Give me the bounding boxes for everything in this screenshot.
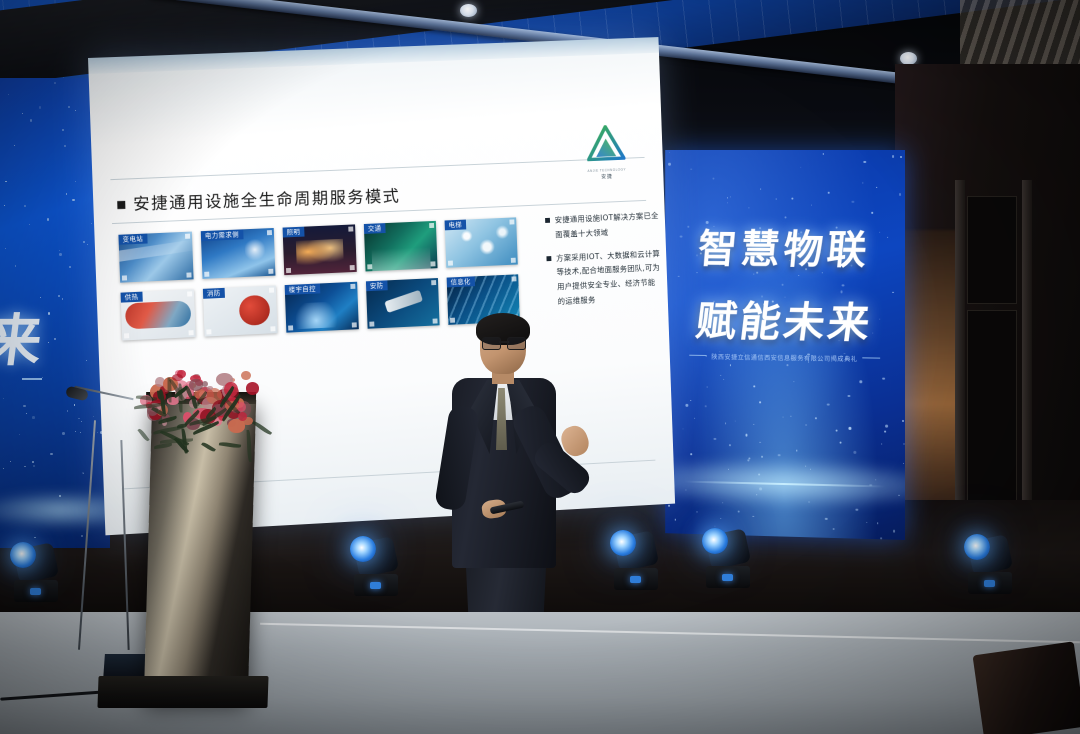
logo-cn-text: 安捷 bbox=[585, 172, 629, 181]
led-dash-right bbox=[862, 357, 880, 358]
thumbnail-row: 变电站电力需求侧照明交通电梯 bbox=[118, 217, 531, 283]
led-particle bbox=[848, 395, 850, 398]
led-particle bbox=[66, 193, 68, 195]
thumbnail-label: 供热 bbox=[121, 292, 143, 303]
stage-light-lens-icon bbox=[964, 534, 990, 560]
thumbnail-corner-marker bbox=[448, 261, 453, 266]
led-particle bbox=[10, 461, 11, 462]
thumbnail-tile: 供热 bbox=[121, 289, 196, 340]
led-particle bbox=[883, 377, 885, 380]
led-particle bbox=[686, 404, 688, 406]
led-particle bbox=[811, 205, 812, 206]
led-particle bbox=[892, 155, 894, 157]
stage-light-lens-icon bbox=[350, 536, 376, 562]
led-particle bbox=[24, 466, 26, 468]
thumbnail-corner-marker bbox=[369, 322, 374, 327]
led-particle bbox=[47, 218, 50, 221]
led-particle bbox=[81, 421, 82, 422]
led-particle bbox=[786, 364, 788, 366]
led-particle bbox=[668, 163, 670, 165]
led-particle bbox=[884, 431, 886, 433]
thumbnail-tile: 电力需求侧 bbox=[201, 228, 276, 279]
flower-petal bbox=[238, 412, 246, 421]
led-particle bbox=[15, 265, 16, 266]
led-particle bbox=[50, 453, 53, 456]
stage-light-lens-icon bbox=[10, 542, 36, 568]
led-particle bbox=[899, 193, 902, 196]
flower-petal bbox=[241, 371, 250, 380]
led-particle bbox=[862, 182, 863, 183]
led-particle bbox=[842, 284, 845, 287]
led-particle bbox=[902, 420, 905, 423]
stage-light-indicator bbox=[30, 588, 41, 595]
slide-bullet-list: 安捷通用设施IOT解决方案已全面覆盖十大领域方案采用IOT、大数据和云计算等技术… bbox=[545, 209, 664, 319]
led-particle bbox=[800, 167, 801, 168]
thumbnail-corner-marker bbox=[509, 219, 514, 224]
stage-light-indicator bbox=[722, 574, 733, 581]
bullet-square-icon bbox=[117, 201, 125, 209]
thumbnail-corner-marker bbox=[286, 268, 291, 273]
led-particle bbox=[748, 207, 749, 208]
led-particle bbox=[33, 465, 35, 467]
led-particle bbox=[876, 187, 877, 188]
led-particle bbox=[696, 511, 697, 512]
thumbnail-corner-marker bbox=[189, 330, 194, 335]
led-particle bbox=[54, 82, 56, 84]
thumbnail-corner-marker bbox=[186, 272, 191, 277]
thumbnail-tile: 变电站 bbox=[118, 232, 193, 283]
thumbnail-corner-marker bbox=[511, 258, 516, 263]
slide-divider-top bbox=[110, 157, 644, 180]
thumbnail-corner-marker bbox=[122, 275, 127, 280]
thumbnail-corner-marker bbox=[288, 325, 293, 330]
led-particle bbox=[871, 212, 873, 214]
led-particle bbox=[833, 528, 835, 530]
led-particle bbox=[64, 145, 66, 147]
stage-monitor bbox=[973, 641, 1080, 734]
slide-heading: 安捷通用设施全生命周期服务模式 bbox=[117, 183, 401, 215]
led-particle bbox=[791, 197, 793, 199]
thumbnail-tile: 交通 bbox=[364, 221, 438, 272]
led-particle bbox=[5, 248, 6, 249]
thumbnail-tile: 照明 bbox=[283, 224, 357, 275]
led-particle bbox=[881, 443, 882, 444]
flower-leaf bbox=[168, 377, 172, 402]
led-particle bbox=[32, 416, 35, 419]
led-particle bbox=[866, 521, 867, 522]
podium-base bbox=[97, 676, 268, 708]
glasses-lens-right bbox=[507, 337, 526, 350]
led-particle bbox=[753, 424, 754, 425]
led-particle bbox=[59, 253, 62, 256]
led-particle bbox=[728, 444, 730, 446]
thumbnail-tile: 安防 bbox=[366, 278, 440, 329]
stage-light bbox=[8, 530, 64, 606]
main-led-screen: 智慧物联 赋能未来 陕西安捷立信通信西安信息服务有限公司揭成典礼 bbox=[665, 150, 905, 540]
led-particle bbox=[827, 403, 830, 406]
led-particle bbox=[80, 432, 81, 433]
slide-bullet: 安捷通用设施IOT解决方案已全面覆盖十大领域 bbox=[545, 209, 661, 243]
led-particle bbox=[87, 244, 88, 245]
led-particle bbox=[75, 181, 76, 182]
led-particle bbox=[691, 168, 692, 169]
led-particle bbox=[72, 199, 74, 201]
led-particle bbox=[62, 432, 65, 435]
photo-scene: 来 智慧物联 赋能未来 陕西安捷立信通信西安信息服务有限公司揭成典礼 bbox=[0, 0, 1080, 734]
led-particle bbox=[793, 381, 794, 382]
led-particle bbox=[781, 283, 784, 286]
led-particle bbox=[3, 398, 4, 399]
flower-petal bbox=[189, 379, 203, 391]
led-particle bbox=[75, 431, 76, 432]
led-particle bbox=[5, 181, 6, 182]
thumbnail-corner-marker bbox=[511, 276, 516, 281]
thumbnail-label: 电力需求侧 bbox=[201, 229, 243, 241]
thumbnail-corner-marker bbox=[367, 264, 372, 269]
led-particle bbox=[745, 434, 748, 437]
thumbnail-label: 变电站 bbox=[118, 234, 147, 245]
thumbnail-corner-marker bbox=[204, 272, 209, 277]
led-particle bbox=[62, 298, 63, 299]
slide-bullet: 方案采用IOT、大数据和云计算等技术,配合地面服务团队,可为用户提供安全专业、经… bbox=[546, 247, 663, 310]
led-particle bbox=[75, 110, 76, 111]
led-particle bbox=[712, 177, 714, 179]
thumbnail-corner-marker bbox=[429, 223, 434, 228]
thumbnail-label: 电梯 bbox=[445, 220, 466, 231]
led-particle bbox=[825, 518, 828, 521]
led-particle bbox=[775, 198, 776, 199]
stage-light-lens-icon bbox=[702, 528, 728, 554]
flower-leaf bbox=[202, 441, 217, 453]
thumbnail-label: 信息化 bbox=[447, 276, 475, 287]
led-particle bbox=[864, 161, 866, 163]
led-particle bbox=[26, 413, 27, 414]
led-particle bbox=[903, 443, 905, 445]
thumbnail-corner-marker bbox=[270, 326, 275, 331]
led-left-glow bbox=[0, 490, 110, 530]
thumbnail-corner-marker bbox=[352, 322, 357, 327]
thumbnail-label: 交通 bbox=[364, 223, 386, 234]
led-particle bbox=[54, 338, 56, 340]
led-particle bbox=[19, 434, 20, 435]
led-particle bbox=[8, 94, 10, 96]
flower-leaf bbox=[219, 441, 241, 448]
led-particle bbox=[860, 380, 863, 383]
flower-petal bbox=[207, 386, 213, 390]
led-particle bbox=[805, 424, 807, 426]
flower-petal bbox=[246, 382, 260, 395]
glasses-icon bbox=[482, 337, 526, 348]
led-particle bbox=[796, 449, 798, 451]
led-dash-left bbox=[689, 355, 706, 356]
led-particle bbox=[14, 145, 15, 146]
led-particle bbox=[694, 418, 695, 419]
stage-light-lens-icon bbox=[610, 530, 636, 556]
led-particle bbox=[93, 416, 94, 417]
led-particle bbox=[705, 406, 706, 408]
led-particle bbox=[69, 266, 70, 267]
led-particle bbox=[853, 451, 856, 454]
led-particle bbox=[880, 537, 882, 539]
led-particle bbox=[782, 416, 783, 417]
led-left-dash bbox=[22, 378, 42, 380]
led-particle bbox=[815, 417, 817, 419]
led-particle bbox=[30, 119, 33, 122]
led-particle bbox=[730, 196, 731, 197]
led-particle bbox=[74, 404, 76, 406]
led-particle bbox=[822, 153, 824, 155]
led-particle bbox=[58, 295, 61, 298]
truss-lamp-icon bbox=[460, 4, 477, 17]
led-particle bbox=[674, 519, 676, 521]
thumbnail-corner-marker bbox=[348, 226, 353, 231]
led-particle bbox=[877, 522, 879, 524]
led-particle bbox=[852, 201, 854, 203]
led-particle bbox=[753, 385, 755, 387]
led-particle bbox=[32, 461, 35, 464]
stage-light bbox=[700, 516, 756, 592]
stage-light bbox=[348, 524, 404, 600]
led-particle bbox=[24, 205, 26, 207]
thumbnail-corner-marker bbox=[185, 234, 190, 239]
thumbnail-label: 照明 bbox=[283, 227, 305, 238]
led-particle bbox=[78, 418, 80, 420]
led-particle bbox=[725, 423, 727, 425]
led-particle bbox=[83, 241, 85, 243]
led-particle bbox=[885, 425, 888, 428]
led-particle bbox=[86, 360, 87, 361]
led-particle bbox=[734, 420, 735, 421]
led-particle bbox=[790, 416, 791, 417]
stage-light bbox=[962, 522, 1018, 598]
led-particle bbox=[900, 156, 902, 158]
triangle-logo-icon bbox=[586, 124, 626, 161]
led-particle bbox=[760, 188, 761, 189]
led-particle bbox=[42, 377, 43, 378]
thumbnail-label: 消防 bbox=[203, 288, 225, 299]
flower-petal bbox=[172, 374, 183, 381]
led-particle bbox=[48, 312, 50, 314]
led-particle bbox=[759, 442, 760, 444]
glasses-lens-left bbox=[482, 337, 501, 350]
led-particle bbox=[39, 106, 41, 108]
thumbnail-corner-marker bbox=[431, 280, 436, 285]
led-particle bbox=[669, 152, 670, 153]
slide-heading-text: 安捷通用设施全生命周期服务模式 bbox=[133, 187, 401, 214]
led-particle bbox=[690, 400, 691, 401]
wood-wall-panel bbox=[900, 230, 958, 530]
led-particle bbox=[23, 405, 26, 408]
led-particle bbox=[730, 365, 731, 366]
led-particle bbox=[714, 438, 717, 441]
slide-logo: ANJIE TECHNOLOGY 安捷 bbox=[583, 124, 629, 177]
thumbnail-corner-marker bbox=[267, 230, 272, 235]
led-particle bbox=[828, 192, 830, 194]
flower-leaf bbox=[154, 443, 172, 449]
led-particle bbox=[840, 442, 842, 444]
led-particle bbox=[29, 224, 30, 225]
led-particle bbox=[48, 342, 49, 343]
thumbnail-tile: 消防 bbox=[203, 285, 278, 336]
thumbnail-tile: 电梯 bbox=[445, 217, 518, 267]
thumbnail-corner-marker bbox=[268, 269, 273, 274]
led-particle bbox=[67, 410, 69, 412]
led-particle bbox=[682, 428, 683, 429]
led-particle bbox=[727, 202, 728, 203]
led-particle bbox=[4, 205, 5, 206]
led-particle bbox=[706, 386, 707, 387]
thumbnail-corner-marker bbox=[124, 333, 129, 338]
led-particle bbox=[727, 197, 728, 198]
led-particle bbox=[68, 106, 70, 108]
led-particle bbox=[91, 223, 92, 224]
flower-leaf bbox=[157, 391, 162, 400]
led-particle bbox=[81, 535, 83, 537]
led-particle bbox=[22, 113, 23, 114]
led-particle bbox=[893, 530, 895, 532]
led-headline-primary: 智慧物联 bbox=[665, 217, 905, 276]
flower-arrangement bbox=[132, 362, 262, 452]
thumbnail-label: 楼宇自控 bbox=[285, 283, 320, 295]
led-particle bbox=[720, 375, 721, 376]
led-particle bbox=[678, 275, 680, 277]
thumbnail-label: 安防 bbox=[366, 280, 388, 291]
thumbnail-corner-marker bbox=[187, 291, 192, 296]
led-headline-secondary: 赋能未来 bbox=[665, 288, 905, 351]
stage-light-indicator bbox=[370, 582, 381, 589]
thumbnail-corner-marker bbox=[350, 284, 355, 289]
led-particle bbox=[97, 432, 98, 433]
led-particle bbox=[723, 378, 724, 379]
thumbnail-tile: 楼宇自控 bbox=[285, 282, 359, 333]
stage-light bbox=[608, 518, 664, 594]
led-particle bbox=[836, 430, 838, 432]
led-particle bbox=[849, 427, 851, 430]
led-particle bbox=[738, 511, 740, 513]
thumbnail-corner-marker bbox=[431, 261, 436, 266]
stage-light-indicator bbox=[984, 580, 995, 587]
led-particle bbox=[59, 250, 60, 251]
led-bottom-glow bbox=[665, 454, 905, 514]
led-particle bbox=[83, 473, 84, 474]
thumbnail-corner-marker bbox=[350, 265, 355, 270]
led-particle bbox=[760, 401, 761, 403]
wall-recess bbox=[967, 196, 1017, 304]
led-particle bbox=[62, 129, 64, 131]
flower-leaf bbox=[138, 428, 150, 442]
stage-light-indicator bbox=[630, 576, 641, 583]
led-particle bbox=[3, 468, 4, 469]
thumbnail-corner-marker bbox=[269, 288, 274, 293]
thumbnail-corner-marker bbox=[206, 329, 211, 334]
